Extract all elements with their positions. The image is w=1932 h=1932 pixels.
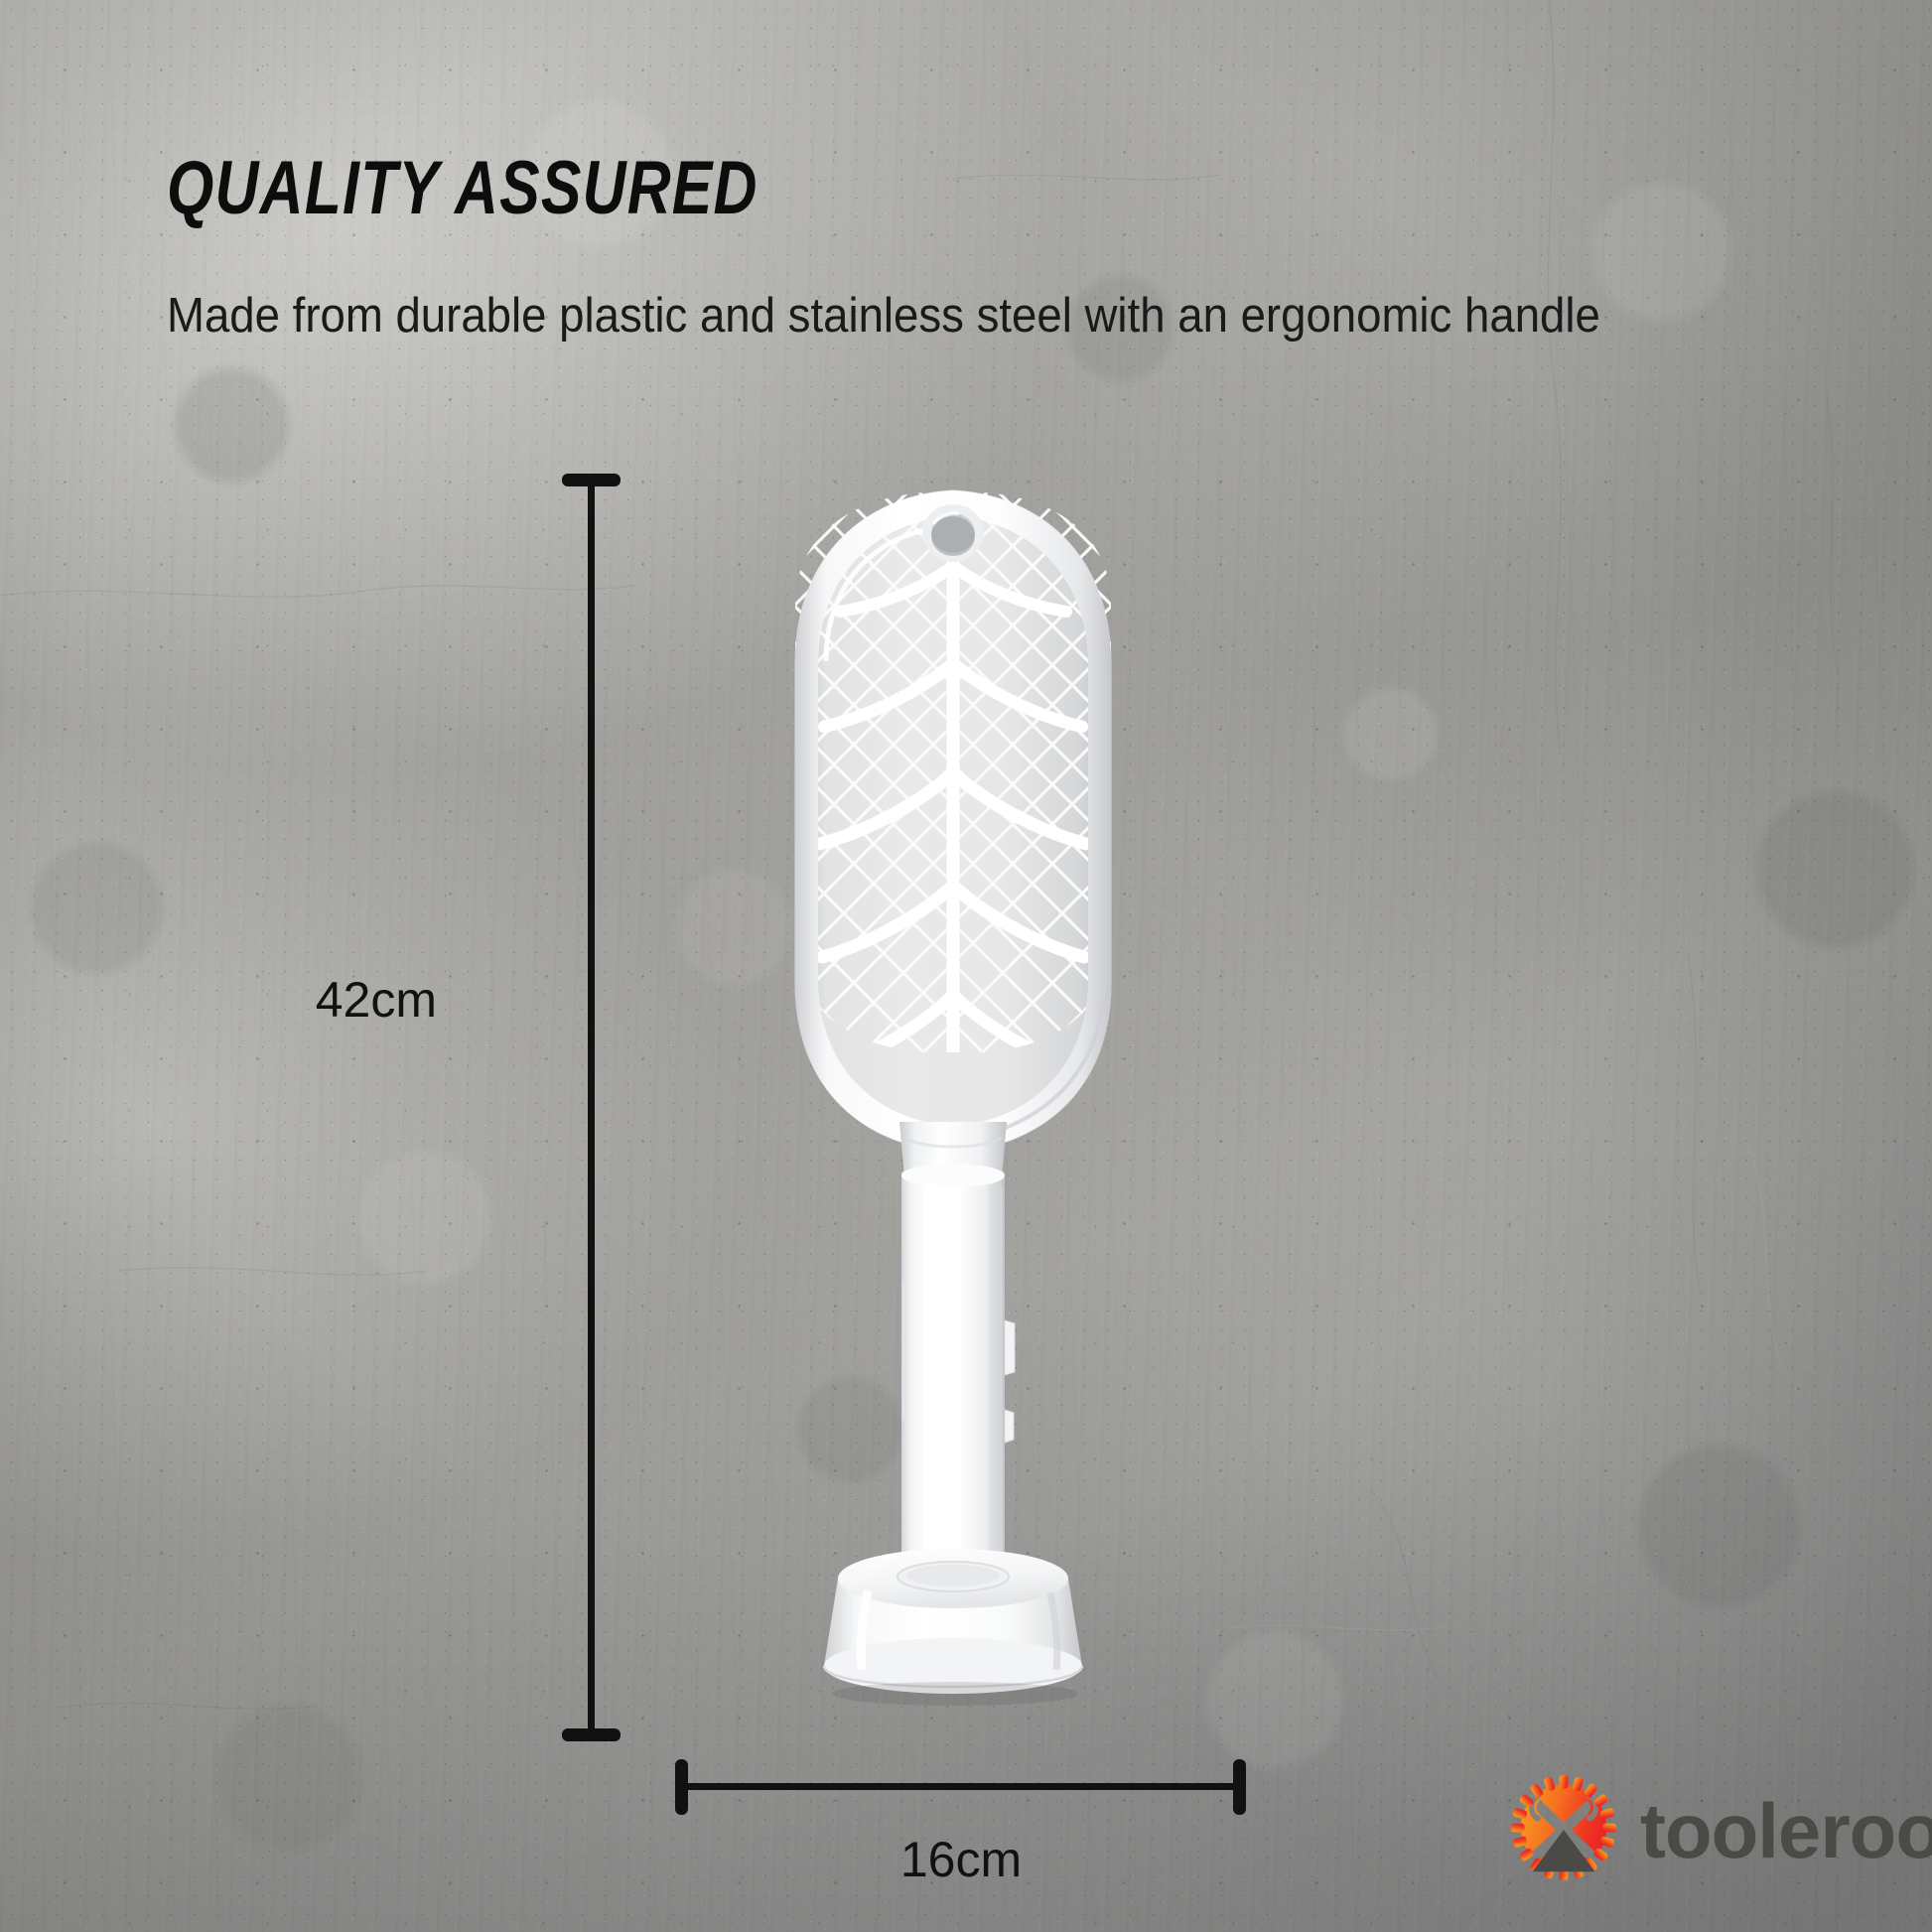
brand-logo: tooleroo bbox=[1505, 1769, 1932, 1886]
width-dimension-label: 16cm bbox=[900, 1831, 1022, 1888]
height-dimension-label: 42cm bbox=[316, 971, 437, 1029]
tooleroo-gear-icon bbox=[1505, 1769, 1622, 1886]
product-shadow bbox=[832, 1682, 1078, 1706]
height-dimension-line bbox=[588, 477, 595, 1737]
brand-wordmark: tooleroo bbox=[1640, 1792, 1932, 1869]
charging-base bbox=[824, 1549, 1082, 1706]
height-dimension-cap-bottom bbox=[562, 1728, 621, 1741]
width-dimension-line bbox=[678, 1783, 1246, 1790]
product-dimension-graphic: QUALITY ASSURED Made from durable plasti… bbox=[0, 0, 1932, 1932]
page-title: QUALITY ASSURED bbox=[167, 149, 759, 228]
width-dimension-cap-right bbox=[1233, 1759, 1246, 1815]
handle bbox=[901, 1164, 1015, 1585]
secondary-button[interactable] bbox=[1005, 1410, 1014, 1443]
power-button[interactable] bbox=[1005, 1320, 1015, 1375]
page-subtitle: Made from durable plastic and stainless … bbox=[167, 288, 1600, 344]
hanging-hole bbox=[922, 504, 984, 562]
product-image bbox=[655, 427, 1251, 1737]
